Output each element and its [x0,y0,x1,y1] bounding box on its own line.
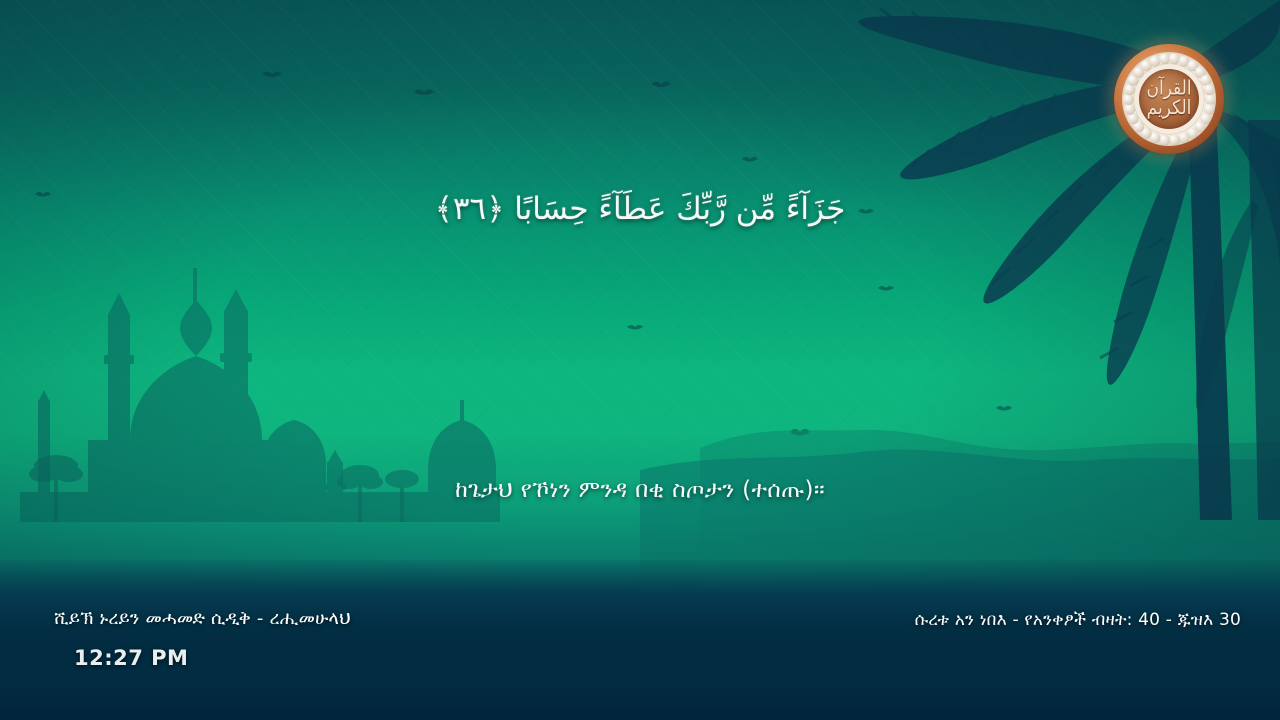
logo-calligraphy-text: القرآن الكريم [1139,79,1199,118]
verse-arabic-text: جَزَآءً مِّن رَّبِّكَ عَطَآءً حِسَابًا ﴿… [0,186,1280,233]
broadcast-screen: جَزَآءً مِّن رَّبِّكَ عَطَآءً حِسَابًا ﴿… [0,0,1280,720]
reciter-label: ሺይኽ ኑረይን መሓመድ ሲዲቅ - ረሒመሁላህ [54,608,351,629]
clock-display: 12:27 PM [74,646,188,670]
logo-inner-disc: القرآن الكريم [1139,69,1199,129]
surah-info-label: ሱረቱ አን ነበእ - የአንቀፆች ብዛት: 40 - ጁዝእ 30 [915,610,1241,630]
quran-channel-logo[interactable]: القرآن الكريم [1114,44,1224,154]
verse-translation-text: ከጌታህ የኾነን ምንዳ በቂ ስጦታን (ተሰጡ)። [0,474,1280,506]
